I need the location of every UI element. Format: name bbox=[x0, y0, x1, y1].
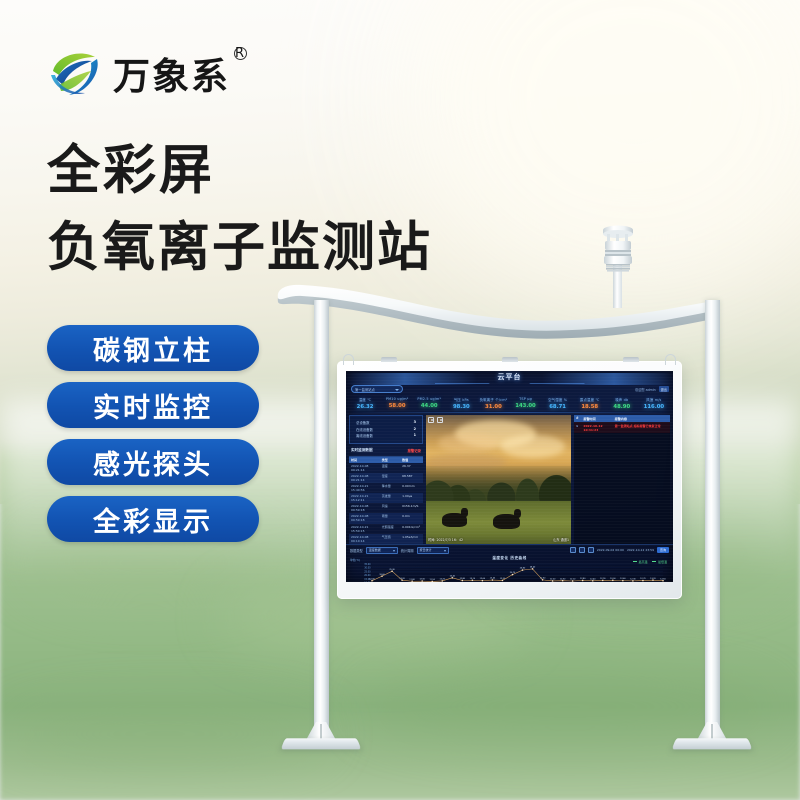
snapshot-icon[interactable] bbox=[437, 417, 443, 423]
column-header: 报警内容 bbox=[615, 416, 668, 421]
left-panel: 总设备数 3 在线设备数 2 离线设备数 1 实时监测数据 报警记录 时间 bbox=[349, 415, 423, 544]
chart-icon[interactable] bbox=[579, 547, 585, 553]
led-display-screen: 云平台 第一监测站点 欢迎您 admin 退出 温度 ℃ 26.32 PM10 … bbox=[346, 371, 673, 582]
brand-name-text: 万象系 bbox=[113, 55, 230, 98]
video-cattle bbox=[493, 514, 521, 529]
screen-header: 云平台 第一监测站点 欢迎您 admin 退出 bbox=[346, 371, 673, 396]
table-row[interactable]: 2022-10-08 09:21:14 湿度 68.587 bbox=[349, 473, 423, 483]
svg-text:12.80: 12.80 bbox=[460, 578, 466, 580]
column-header: # bbox=[576, 416, 583, 421]
left-base-plate bbox=[283, 726, 359, 750]
cabinet-mount-tab bbox=[502, 357, 518, 362]
data-type-select[interactable]: 温度数据 bbox=[366, 547, 398, 554]
svg-text:12.90: 12.90 bbox=[600, 578, 606, 580]
user-greeting: 欢迎您 admin bbox=[635, 387, 656, 392]
chevron-down-icon bbox=[393, 550, 395, 552]
cabinet-mount-tab bbox=[381, 357, 397, 362]
legend-item: 最高温 bbox=[633, 560, 648, 564]
data-type-label: 数据类型 bbox=[350, 548, 363, 553]
logout-button[interactable]: 退出 bbox=[659, 386, 669, 392]
metric-label: 温度 ℃ bbox=[349, 397, 381, 402]
feature-pill[interactable]: 感光探头 bbox=[47, 439, 259, 485]
metric-value: 48.90 bbox=[606, 404, 638, 410]
cabinet-hinge-icon bbox=[343, 354, 354, 365]
date-start-field[interactable]: 2022-09-02 00:00 bbox=[597, 548, 624, 552]
svg-text:26.80: 26.80 bbox=[520, 568, 526, 570]
video-cloud bbox=[438, 433, 496, 454]
metric-label: 负氧离子 个/cm³ bbox=[477, 397, 509, 402]
table-row[interactable]: 2022-10-08 09:21:14 温度 26.37 bbox=[349, 463, 423, 473]
right-base-plate bbox=[674, 726, 750, 750]
svg-text:12.40: 12.40 bbox=[590, 578, 596, 580]
stat-row: 离线设备数 1 bbox=[356, 433, 416, 438]
metric-value: 98.30 bbox=[445, 404, 477, 410]
table-row[interactable]: 2022-10-21 15:12:11 蒸发量 1.09μs bbox=[349, 493, 423, 503]
center-panel: 时间: 2022/7/3 16：42 山东 通道1 bbox=[426, 415, 571, 544]
svg-text:30.00: 30.00 bbox=[364, 567, 371, 570]
svg-text:11.50: 11.50 bbox=[429, 579, 435, 581]
device-stats-box: 总设备数 3 在线设备数 2 离线设备数 1 bbox=[349, 415, 423, 444]
metric-cell: 温度 ℃ 26.32 bbox=[349, 397, 381, 410]
stat-label: 总设备数 bbox=[356, 420, 370, 425]
stat-label: 在线设备数 bbox=[356, 427, 373, 432]
metric-label: PM2.5 ug/m³ bbox=[413, 397, 445, 401]
chart-legend: 最高温 最低温 bbox=[633, 560, 667, 564]
page-title: 云平台 bbox=[346, 372, 673, 382]
chevron-down-icon bbox=[395, 389, 399, 391]
svg-text:12.50: 12.50 bbox=[660, 578, 666, 580]
svg-text:12.60: 12.60 bbox=[480, 578, 486, 580]
right-support-post bbox=[705, 300, 720, 738]
period-value: 按日统计 bbox=[420, 548, 432, 552]
metric-label: 噪声 db bbox=[606, 397, 638, 402]
metric-label: 空气湿度 % bbox=[542, 397, 574, 402]
metric-cell: 露点温度 ℃ 18.58 bbox=[574, 397, 606, 410]
video-treeline bbox=[426, 466, 571, 505]
globe-swoosh-logo-icon bbox=[47, 45, 103, 101]
realtime-panel-header: 实时监测数据 报警记录 bbox=[349, 447, 423, 454]
video-timestamp: 时间: 2022/7/3 16：42 bbox=[428, 537, 463, 542]
feature-pill[interactable]: 全彩显示 bbox=[47, 496, 259, 542]
svg-text:12.60: 12.60 bbox=[620, 578, 626, 580]
wave-canopy-roof bbox=[272, 282, 712, 360]
export-icon[interactable] bbox=[588, 547, 594, 553]
metric-cell: 噪声 db 48.90 bbox=[606, 397, 638, 410]
metric-value: 143.00 bbox=[509, 403, 541, 409]
alarm-row[interactable]: 1 2022-10-12 10:41:23 第一监测站点 超标报警已恢复正常 bbox=[574, 422, 670, 433]
alarm-records-link[interactable]: 报警记录 bbox=[407, 448, 421, 453]
realtime-data-table[interactable]: 时间 类型 数值 2022-10-08 09:21:14 温度 26.37 20… bbox=[349, 456, 423, 544]
live-video-feed[interactable]: 时间: 2022/7/3 16：42 山东 通道1 bbox=[426, 415, 571, 544]
date-end-field[interactable]: 2022-10-12 23:59 bbox=[627, 548, 654, 552]
fullscreen-icon[interactable] bbox=[428, 417, 434, 423]
stat-value: 1 bbox=[414, 433, 416, 438]
metric-cell: PM10 ug/m³ 58.00 bbox=[381, 397, 413, 410]
svg-text:25.30: 25.30 bbox=[389, 569, 395, 571]
alarm-panel: # 报警时间 报警内容 1 2022-10-12 10:41:23 第一监测站点… bbox=[574, 415, 670, 544]
chart-toolbar: 数据类型 温度数据 统计周期 按日统计 2022-09-02 00:00 202… bbox=[346, 544, 673, 556]
svg-text:12.40: 12.40 bbox=[369, 578, 375, 580]
table-icon[interactable] bbox=[570, 547, 576, 553]
metric-cell: 风速 m/s 116.00 bbox=[638, 397, 670, 410]
column-header: 报警时间 bbox=[583, 416, 614, 421]
svg-text:12.70: 12.70 bbox=[640, 578, 646, 580]
realtime-panel-title: 实时监测数据 bbox=[351, 448, 373, 453]
stat-value: 2 bbox=[414, 427, 416, 432]
metric-label: 露点温度 ℃ bbox=[574, 397, 606, 402]
data-type-value: 温度数据 bbox=[369, 548, 381, 552]
column-header: 数值 bbox=[402, 458, 421, 462]
metric-value: 31.00 bbox=[477, 404, 509, 410]
svg-text:12.20: 12.20 bbox=[550, 579, 556, 581]
chevron-down-icon bbox=[444, 550, 446, 552]
svg-text:13.40: 13.40 bbox=[490, 578, 496, 580]
video-cattle bbox=[442, 513, 467, 527]
metric-label: 风速 m/s bbox=[638, 397, 670, 402]
ultrasonic-weather-sensor bbox=[596, 222, 640, 274]
svg-text:20.00: 20.00 bbox=[364, 574, 371, 577]
table-row[interactable]: 2022-10-08 09:10:14 气压值 1.05e3/cm bbox=[349, 534, 423, 544]
alarm-header-row: # 报警时间 报警内容 bbox=[574, 415, 670, 423]
stat-value: 3 bbox=[414, 420, 416, 425]
metric-value: 26.32 bbox=[349, 404, 381, 410]
table-row[interactable]: 2022-10-08 09:59:18 风速 0156.1m/S bbox=[349, 503, 423, 513]
station-select[interactable]: 第一监测站点 bbox=[351, 385, 403, 393]
left-support-post bbox=[314, 300, 329, 738]
metric-value: 58.00 bbox=[381, 403, 413, 409]
svg-text:13.20: 13.20 bbox=[650, 578, 656, 580]
brand-logo: 万象系 R bbox=[47, 45, 230, 101]
metric-label: 气压 kPa bbox=[445, 397, 477, 402]
headline-line-1: 全彩屏 bbox=[47, 128, 215, 204]
brand-name: 万象系 R bbox=[113, 46, 230, 100]
column-header: 时间 bbox=[351, 458, 382, 462]
svg-text:16.40: 16.40 bbox=[450, 575, 456, 577]
metric-label: PM10 ug/m³ bbox=[381, 397, 413, 401]
stat-row: 总设备数 3 bbox=[356, 420, 416, 425]
svg-text:13.60: 13.60 bbox=[540, 578, 546, 580]
registered-mark-icon: R bbox=[234, 47, 247, 60]
svg-text:13.20: 13.20 bbox=[399, 578, 405, 580]
history-chart: 温度变化 历史曲线 单位(℃) 最高温 最低温 35.0030.0025.002… bbox=[346, 556, 673, 583]
metric-value: 116.00 bbox=[638, 404, 670, 410]
chart-y-unit: 单位(℃) bbox=[350, 558, 360, 562]
svg-text:13.00: 13.00 bbox=[610, 578, 616, 580]
svg-text:18.60: 18.60 bbox=[379, 574, 385, 576]
svg-text:12.80: 12.80 bbox=[580, 578, 586, 580]
svg-text:12.20: 12.20 bbox=[440, 579, 446, 581]
metric-strip: 温度 ℃ 26.32 PM10 ug/m³ 58.00 PM2.5 ug/m³ … bbox=[346, 396, 673, 410]
video-watermark: 山东 通道1 bbox=[553, 537, 569, 542]
svg-text:25.00: 25.00 bbox=[364, 570, 371, 573]
video-tool-icons[interactable] bbox=[428, 417, 443, 423]
svg-text:12.10: 12.10 bbox=[570, 579, 576, 581]
station-select-value: 第一监测站点 bbox=[355, 387, 375, 392]
svg-text:28.40: 28.40 bbox=[530, 567, 536, 569]
table-row[interactable]: 2022-10-08 09:59:18 雨量 0.0m bbox=[349, 513, 423, 523]
metric-cell: 负氧离子 个/cm³ 31.00 bbox=[477, 397, 509, 410]
metric-cell: PM2.5 ug/m³ 44.00 bbox=[413, 397, 445, 410]
column-header: 类型 bbox=[382, 458, 402, 462]
feature-pill[interactable]: 碳钢立柱 bbox=[47, 325, 259, 371]
cabinet-mount-tab bbox=[623, 357, 639, 362]
stat-label: 离线设备数 bbox=[356, 433, 373, 438]
metric-value: 18.58 bbox=[574, 404, 606, 410]
chart-canvas: 35.0030.0025.0020.0015.0010.005.000.0012… bbox=[350, 561, 669, 582]
feature-pill[interactable]: 实时监控 bbox=[47, 382, 259, 428]
svg-text:20.70: 20.70 bbox=[510, 572, 516, 574]
svg-text:12.30: 12.30 bbox=[630, 578, 636, 580]
screen-body: 总设备数 3 在线设备数 2 离线设备数 1 实时监测数据 报警记录 时间 bbox=[346, 413, 673, 544]
legend-item: 最低温 bbox=[652, 560, 667, 564]
metric-cell: 气压 kPa 98.30 bbox=[445, 397, 477, 410]
metric-value: 68.71 bbox=[542, 404, 574, 410]
stat-row: 在线设备数 2 bbox=[356, 427, 416, 432]
svg-text:12.90: 12.90 bbox=[500, 578, 506, 580]
period-select[interactable]: 按日统计 bbox=[417, 547, 449, 554]
feature-pill-list: 碳钢立柱 实时监控 感光探头 全彩显示 bbox=[47, 325, 259, 553]
svg-text:13.10: 13.10 bbox=[470, 578, 476, 580]
metric-label: TSP μg bbox=[509, 397, 541, 401]
period-label: 统计周期 bbox=[401, 548, 414, 553]
svg-text:35.00: 35.00 bbox=[364, 563, 371, 566]
user-area: 欢迎您 admin 退出 bbox=[635, 386, 669, 392]
cabinet-hinge-icon bbox=[665, 354, 676, 365]
svg-text:12.50: 12.50 bbox=[560, 578, 566, 580]
headline-line-2: 负氧离子监测站 bbox=[47, 205, 432, 281]
metric-value: 44.00 bbox=[413, 403, 445, 409]
table-row[interactable]: 2022-10-21 15:50:15 光照强度 0.001lx/cm² bbox=[349, 524, 423, 534]
query-button[interactable]: 查询 bbox=[657, 547, 669, 553]
svg-text:12.00: 12.00 bbox=[419, 579, 425, 581]
metric-cell: 空气湿度 % 68.71 bbox=[542, 397, 574, 410]
metric-cell: TSP μg 143.00 bbox=[509, 397, 541, 410]
svg-text:11.80: 11.80 bbox=[409, 579, 415, 581]
table-row[interactable]: 2022-10-21 15:40:56 降水量 0.00mm bbox=[349, 483, 423, 493]
